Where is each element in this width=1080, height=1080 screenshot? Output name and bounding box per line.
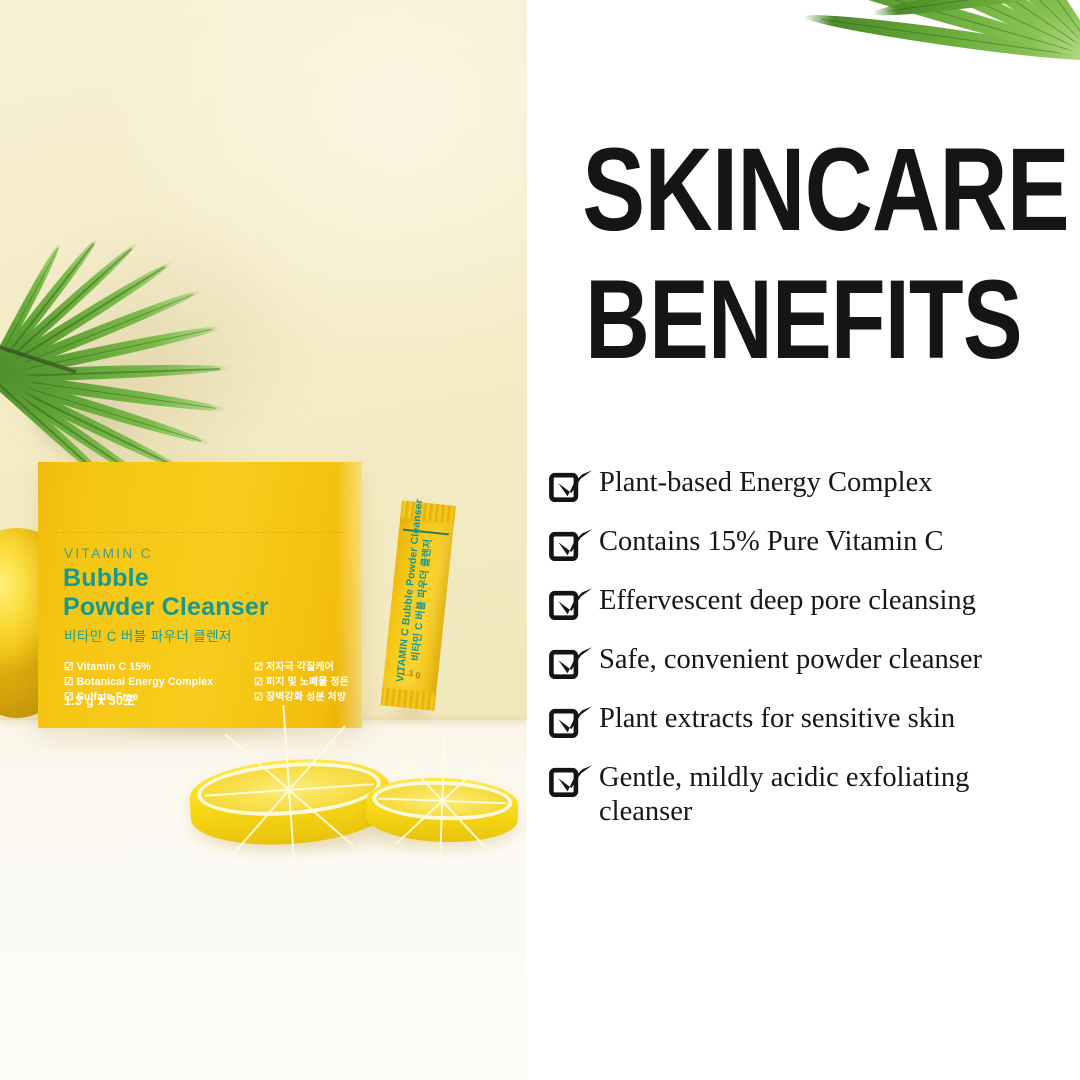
headline-line-1: SKINCARE	[582, 140, 1024, 241]
box-product-title: Bubble Powder Cleanser	[63, 564, 269, 622]
product-box: VITAMIN C Bubble Powder Cleanser 비타민 C 버…	[38, 462, 362, 728]
checkbox-check-icon	[549, 763, 595, 797]
benefit-item: Effervescent deep pore cleansing	[549, 584, 1069, 620]
box-eyebrow-vitamin-c: VITAMIN C	[64, 546, 153, 561]
lemon-segment-line	[442, 800, 506, 804]
product-photo: VITAMIN C Bubble Powder Cleanser 비타민 C 버…	[0, 0, 527, 1080]
feature-line: ☑ Vitamin C 15%	[64, 660, 213, 675]
lemon-segment-line	[395, 801, 443, 846]
checkbox-check-icon	[549, 586, 595, 620]
benefits-list: Plant-based Energy Complex Contains 15% …	[549, 466, 1069, 829]
benefit-text: Gentle, mildly acidic exfoliating cleans…	[595, 761, 1049, 829]
benefit-text: Plant-based Energy Complex	[595, 466, 933, 500]
box-net-weight: 1.3 g x 30포	[64, 690, 135, 709]
lemon-segment-line	[289, 790, 354, 847]
checkbox-check-icon	[549, 704, 595, 738]
feature-line: ☑ Botanical Energy Complex	[64, 675, 213, 690]
checkbox-check-icon	[549, 645, 595, 679]
benefit-item: Gentle, mildly acidic exfoliating cleans…	[549, 761, 1069, 829]
lemon-segment-line	[378, 798, 442, 802]
benefit-item: Plant-based Energy Complex	[549, 466, 1069, 502]
lemon-segment-line	[289, 784, 374, 792]
lemon-slice-flesh	[372, 778, 513, 823]
checkbox-check-icon	[549, 645, 595, 679]
headline-line-2: BENEFITS	[582, 272, 1024, 368]
box-korean-subtitle: 비타민 C 버블 파우더 클렌저	[64, 625, 232, 645]
checkbox-check-icon	[549, 468, 595, 502]
lemon-segment-line	[205, 789, 290, 797]
checkbox-check-icon	[549, 527, 595, 561]
checkbox-check-icon	[549, 527, 595, 561]
checkbox-check-icon	[549, 704, 595, 738]
checkbox-check-icon	[549, 468, 595, 502]
checkbox-check-icon	[549, 586, 595, 620]
feature-line: ☑ 저자극 각질케어	[254, 660, 349, 675]
benefit-text: Effervescent deep pore cleansing	[595, 584, 976, 618]
box-perforation-line	[56, 532, 344, 533]
benefit-text: Contains 15% Pure Vitamin C	[595, 525, 944, 559]
box-features-korean: ☑ 저자극 각질케어☑ 피지 및 노폐물 정돈☑ 장벽강화 성분 처방	[254, 660, 349, 705]
feature-line: ☑ 장벽강화 성분 처방	[254, 690, 349, 705]
lemon-segment-line	[442, 801, 487, 849]
benefit-text: Safe, convenient powder cleanser	[595, 643, 982, 677]
benefit-item: Plant extracts for sensitive skin	[549, 702, 1069, 738]
benefit-item: Safe, convenient powder cleanser	[549, 643, 1069, 679]
box-title-line-2: Powder Cleanser	[63, 593, 269, 622]
benefit-item: Contains 15% Pure Vitamin C	[549, 525, 1069, 561]
feature-line: ☑ 피지 및 노폐물 정돈	[254, 675, 349, 690]
box-title-line-1: Bubble	[63, 564, 269, 593]
benefit-text: Plant extracts for sensitive skin	[595, 702, 955, 736]
checkbox-check-icon	[549, 763, 595, 797]
poster-canvas: VITAMIN C Bubble Powder Cleanser 비타민 C 버…	[0, 0, 1080, 1080]
